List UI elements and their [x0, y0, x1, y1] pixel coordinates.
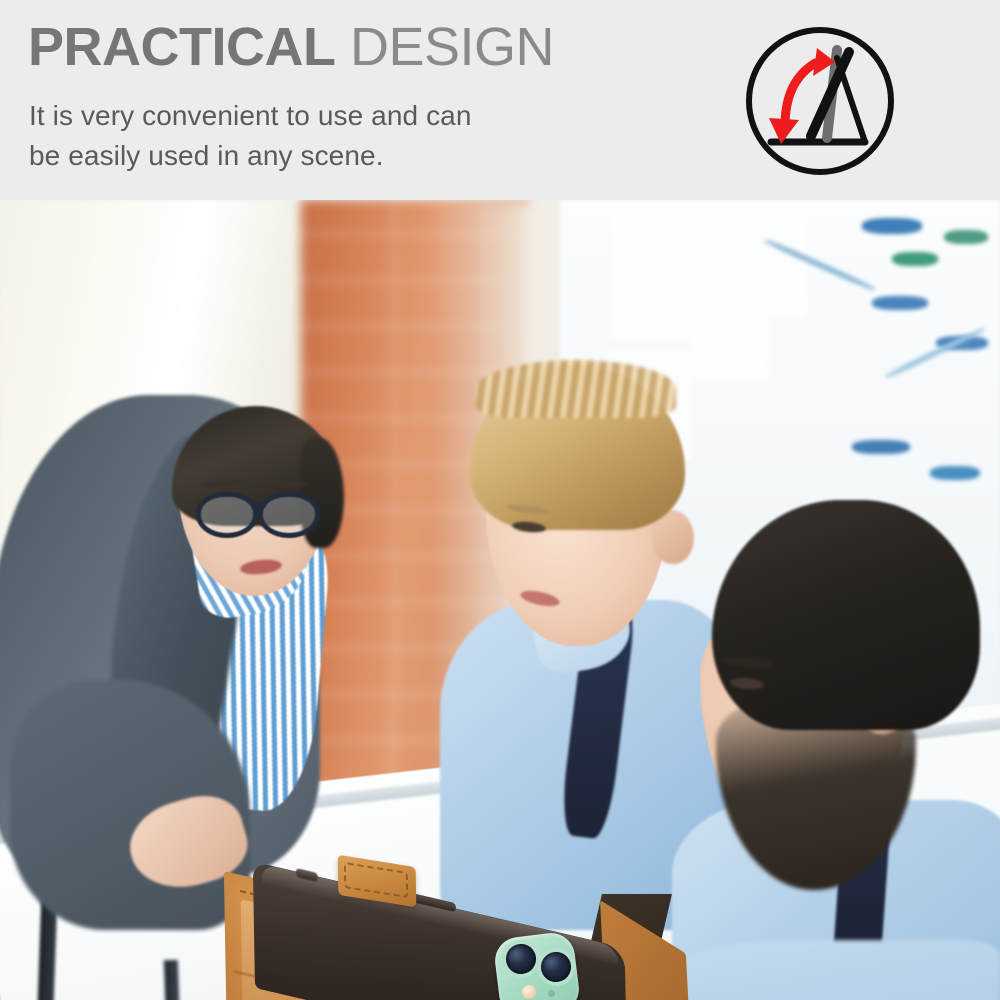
subtitle: It is very convenient to use and can be … — [29, 96, 472, 176]
whiteboard-scribble — [852, 440, 910, 454]
subtitle-line-1: It is very convenient to use and can — [29, 96, 472, 136]
glasses-lens-right — [258, 492, 320, 538]
whiteboard-scribble — [892, 252, 938, 266]
page-title: PRACTICAL DESIGN — [28, 17, 554, 77]
whiteboard-scribble — [872, 296, 928, 310]
whiteboard-scribble — [862, 218, 922, 234]
glasses-lens-left — [196, 492, 258, 538]
title-strong-word: PRACTICAL — [28, 17, 335, 77]
glasses-bridge — [252, 502, 266, 507]
title-light-word: DESIGN — [350, 17, 554, 77]
adjustable-viewing-angle-icon — [741, 22, 899, 180]
product-feature-banner: PRACTICAL DESIGN It is very convenient t… — [0, 0, 1000, 1000]
whiteboard-scribble — [944, 230, 988, 244]
subtitle-line-2: be easily used in any scene. — [29, 136, 472, 176]
office-meeting-photo — [0, 200, 1000, 1000]
whiteboard-scribble — [930, 466, 980, 480]
header-band: PRACTICAL DESIGN It is very convenient t… — [0, 0, 1000, 200]
blonde-man-hair-texture — [476, 360, 676, 418]
whiteboard-note — [690, 260, 768, 380]
